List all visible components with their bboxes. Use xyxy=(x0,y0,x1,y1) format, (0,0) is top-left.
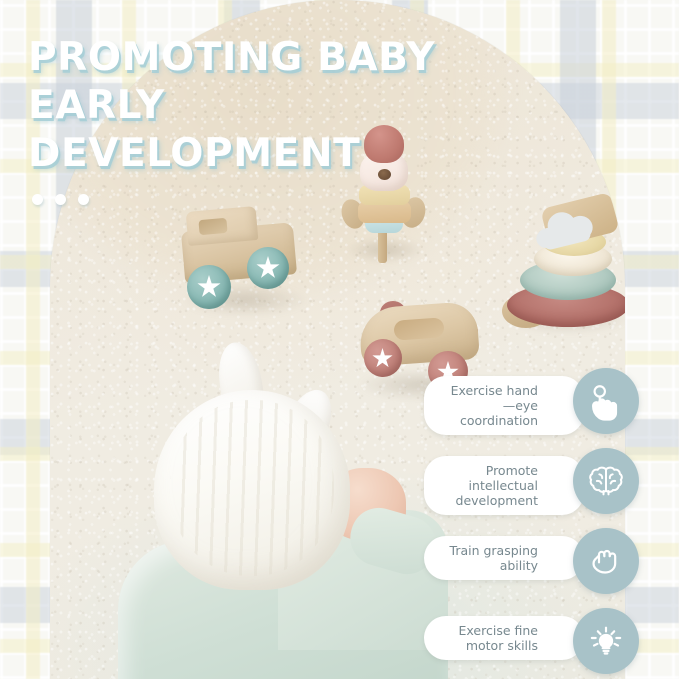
headline-block: PROMOTING BABY EARLY DEVELOPMENT xyxy=(28,34,548,205)
brain-icon xyxy=(573,448,639,514)
decorative-dots xyxy=(32,194,548,205)
feature-intellectual: Promote intellectual development xyxy=(424,448,639,514)
wooden-stacking-rings xyxy=(502,198,625,333)
feature-label-pill: Exercise hand—eye coordination xyxy=(424,376,584,435)
dot-2 xyxy=(55,194,66,205)
star-icon xyxy=(256,256,280,280)
feature-label-text: Train grasping ability xyxy=(440,543,538,573)
truck-window xyxy=(198,218,227,235)
grasping-hand-icon xyxy=(573,528,639,594)
baby-with-bunny-bonnet xyxy=(128,340,448,679)
feature-fine-motor: Exercise fine motor skills xyxy=(424,608,639,674)
feature-label-pill: Train grasping ability xyxy=(424,536,584,580)
truck-wheel-rear xyxy=(247,247,289,289)
tap-hand-icon xyxy=(573,368,639,434)
lightbulb-icon xyxy=(573,608,639,674)
feature-label-pill: Exercise fine motor skills xyxy=(424,616,584,660)
page-title-line-2: DEVELOPMENT xyxy=(28,131,360,176)
feature-grasping: Train grasping ability xyxy=(424,528,639,594)
truck-wheel-front xyxy=(187,265,231,309)
page-title-line-1: PROMOTING BABY EARLY xyxy=(28,35,435,128)
star-icon xyxy=(197,275,221,299)
car-window xyxy=(393,317,444,340)
feature-label-text: Exercise fine motor skills xyxy=(440,623,538,653)
feature-label-pill: Promote intellectual development xyxy=(424,456,584,515)
feature-label-text: Promote intellectual development xyxy=(440,463,538,508)
feature-list: Exercise hand—eye coordination Promote i… xyxy=(424,368,639,679)
wooden-toy-truck xyxy=(175,205,315,315)
feature-label-text: Exercise hand—eye coordination xyxy=(440,383,538,428)
product-infographic: PROMOTING BABY EARLY DEVELOPMENT Exercis… xyxy=(0,0,679,679)
page-title: PROMOTING BABY EARLY DEVELOPMENT xyxy=(28,34,548,178)
dot-1 xyxy=(32,194,43,205)
rocket-stand xyxy=(378,229,387,263)
knit-bonnet xyxy=(154,390,350,590)
feature-hand-eye: Exercise hand—eye coordination xyxy=(424,368,639,434)
dot-3 xyxy=(78,194,89,205)
